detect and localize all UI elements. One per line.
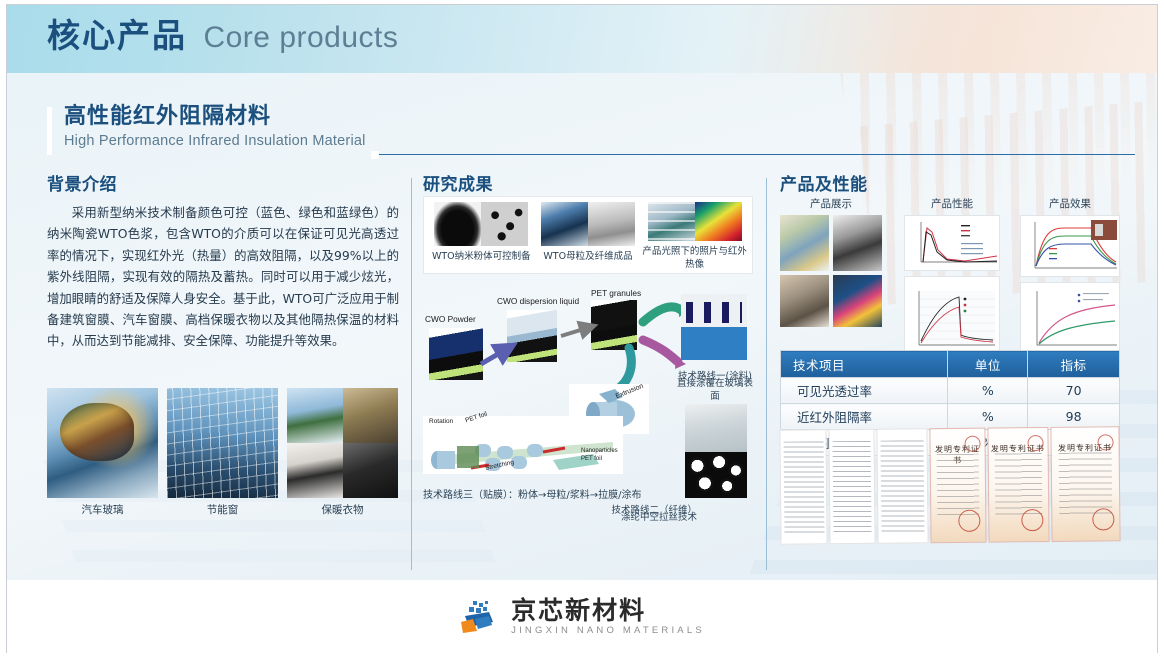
column-divider-right (766, 178, 767, 570)
company-logo: 京芯新材料 JINGXIN NANO MATERIALS (459, 597, 705, 637)
background-paragraph: 采用新型纳米技术制备颜色可控（蓝色、绿色和蓝绿色）的纳米陶瓷WTO色浆，包含WT… (47, 202, 399, 352)
warm-clothing-caption: 保暖衣物 (287, 503, 398, 517)
section-title-rule (379, 154, 1135, 155)
section-title: 高性能红外阻隔材料 High Performance Infrared Insu… (47, 103, 366, 151)
column-research: 研究成果 WTO纳米粉体可控制备 WTO母粒及纤维成品 产品光照下的照片与红外热… (423, 170, 753, 202)
section-title-cn: 高性能红外阻隔材料 (64, 103, 366, 131)
research-thumb-powder: WTO纳米粉体可控制备 (428, 202, 535, 271)
section-title-bar (47, 107, 52, 155)
route-one-caption-line2: 直接涂覆在玻璃表面 (673, 378, 757, 403)
effect-chart-top-svg (1021, 216, 1120, 277)
logo-name-cn: 京芯新材料 (511, 597, 705, 624)
slide-root: 核心产品 Core products 高性能红外阻隔材料 High Perfor… (0, 0, 1164, 657)
product-showcase-photos (780, 215, 882, 327)
table-row: 近红外阻隔率 % 98 (781, 404, 1120, 430)
photo-card-car-glass: 汽车玻璃 (47, 388, 158, 517)
wto-powder-caption: WTO纳米粉体可控制备 (432, 251, 531, 264)
spec-col-item: 技术项目 (781, 351, 948, 378)
certificate-patent-3: 发明专利证书 (1050, 426, 1120, 542)
column-background-heading: 背景介绍 (47, 170, 399, 195)
product-showcase-subhead: 产品展示 (780, 196, 882, 211)
product-top-row: 产品展示 产品性能 (780, 196, 1120, 344)
photo-route-two-fiber-bag (685, 404, 747, 452)
performance-chart-top-svg (905, 216, 1000, 271)
route-two-caption-line2: 涤纶中空拉丝技术 (607, 512, 697, 525)
product-photo-films (780, 215, 829, 271)
spec-table-header-row: 技术项目 单位 指标 (781, 351, 1120, 378)
car-glass-photo (47, 388, 158, 498)
photo-route-one-result (681, 294, 747, 360)
product-performance-subhead: 产品性能 (904, 196, 1000, 211)
product-photo-packages (833, 215, 882, 271)
energy-window-photo (167, 388, 278, 498)
product-effect-subhead: 产品效果 (1020, 196, 1120, 211)
spec-unit-2: % (948, 404, 1028, 430)
spec-unit-1: % (948, 378, 1028, 404)
column-background: 背景介绍 采用新型纳米技术制备颜色可控（蓝色、绿色和蓝绿色）的纳米陶瓷WTO色浆… (47, 170, 399, 352)
wto-powder-photo (434, 202, 528, 246)
warm-clothing-photo (287, 388, 398, 498)
energy-window-caption: 节能窗 (167, 503, 278, 517)
background-photo-row: 汽车玻璃 节能窗 保暖衣物 (47, 388, 399, 517)
product-photo-hand-test (780, 275, 829, 327)
column-research-heading: 研究成果 (423, 170, 753, 195)
research-thumb-masterbatch: WTO母粒及纤维成品 (535, 202, 642, 271)
label-pet-foil-2: PET foil (581, 456, 602, 462)
pixel-arrow-icon (459, 600, 501, 634)
logo-text: 京芯新材料 JINGXIN NANO MATERIALS (511, 597, 705, 637)
performance-chart-bottom (904, 276, 1000, 356)
photo-card-energy-window: 节能窗 (167, 388, 278, 517)
logo-name-en: JINGXIN NANO MATERIALS (511, 624, 705, 637)
certificate-strip: 发明专利证书 发明专利证书 发明专利证书 (779, 426, 1120, 545)
performance-chart-top (904, 215, 1000, 271)
spec-value-1: 70 (1028, 378, 1120, 404)
route-three-caption: 技术路线三（贴膜）：粉体→母粒/浆料→拉膜/涂布 (423, 489, 653, 503)
certificate-test-report-cttc (779, 429, 828, 544)
spec-col-value: 指标 (1028, 351, 1120, 378)
infrared-thermal-photo (648, 202, 742, 241)
effect-chart-top (1020, 215, 1120, 277)
wto-masterbatch-caption: WTO母粒及纤维成品 (543, 251, 632, 264)
spec-item-2: 近红外阻隔率 (781, 404, 948, 430)
certificate-test-report (876, 428, 929, 544)
column-product-heading: 产品及性能 (780, 170, 1120, 195)
spec-item-1: 可见光透过率 (781, 378, 948, 404)
section-title-en: High Performance Infrared Insulation Mat… (64, 131, 366, 151)
logo-mark-icon (459, 600, 501, 634)
effect-chart-bottom-svg (1021, 283, 1120, 356)
column-divider-left (411, 178, 412, 570)
label-nanoparticles: Nanoparticles (581, 448, 618, 454)
wto-masterbatch-photo (541, 202, 635, 246)
performance-chart-bottom-svg (905, 277, 1000, 356)
research-thumb-card: WTO纳米粉体可控制备 WTO母粒及纤维成品 产品光照下的照片与红外热像 (423, 196, 753, 274)
photo-card-warm-clothing: 保暖衣物 (287, 388, 398, 517)
certificate-patent-1: 发明专利证书 (930, 428, 987, 544)
certificate-test-report-gtt (829, 429, 876, 544)
infrared-thermal-caption: 产品光照下的照片与红外热像 (641, 246, 748, 271)
certificate-patent-2: 发明专利证书 (987, 427, 1049, 543)
process-flow-diagram: CWO Powder CWO dispersion liquid PET gra… (423, 288, 753, 540)
footer: 京芯新材料 JINGXIN NANO MATERIALS (7, 580, 1157, 654)
product-performance-block: 产品性能 (904, 196, 1000, 356)
product-photo-thermal-camera (833, 275, 882, 327)
product-effect-block: 产品效果 (1020, 196, 1120, 356)
spec-col-unit: 单位 (948, 351, 1028, 378)
label-rotation: Rotation (429, 418, 453, 425)
product-showcase-block: 产品展示 (780, 196, 882, 327)
table-row: 可见光透过率 % 70 (781, 378, 1120, 404)
car-glass-caption: 汽车玻璃 (47, 503, 158, 517)
column-product: 产品及性能 产品展示 产品性能 (780, 170, 1120, 202)
effect-chart-bottom (1020, 282, 1120, 356)
page-title-cn: 核心产品 (47, 16, 187, 55)
photo-route-two-fiber-sem (685, 452, 747, 498)
page-title: 核心产品 Core products (47, 14, 398, 65)
page-title-en: Core products (203, 21, 398, 54)
research-thumb-infrared: 产品光照下的照片与红外热像 (641, 202, 748, 271)
